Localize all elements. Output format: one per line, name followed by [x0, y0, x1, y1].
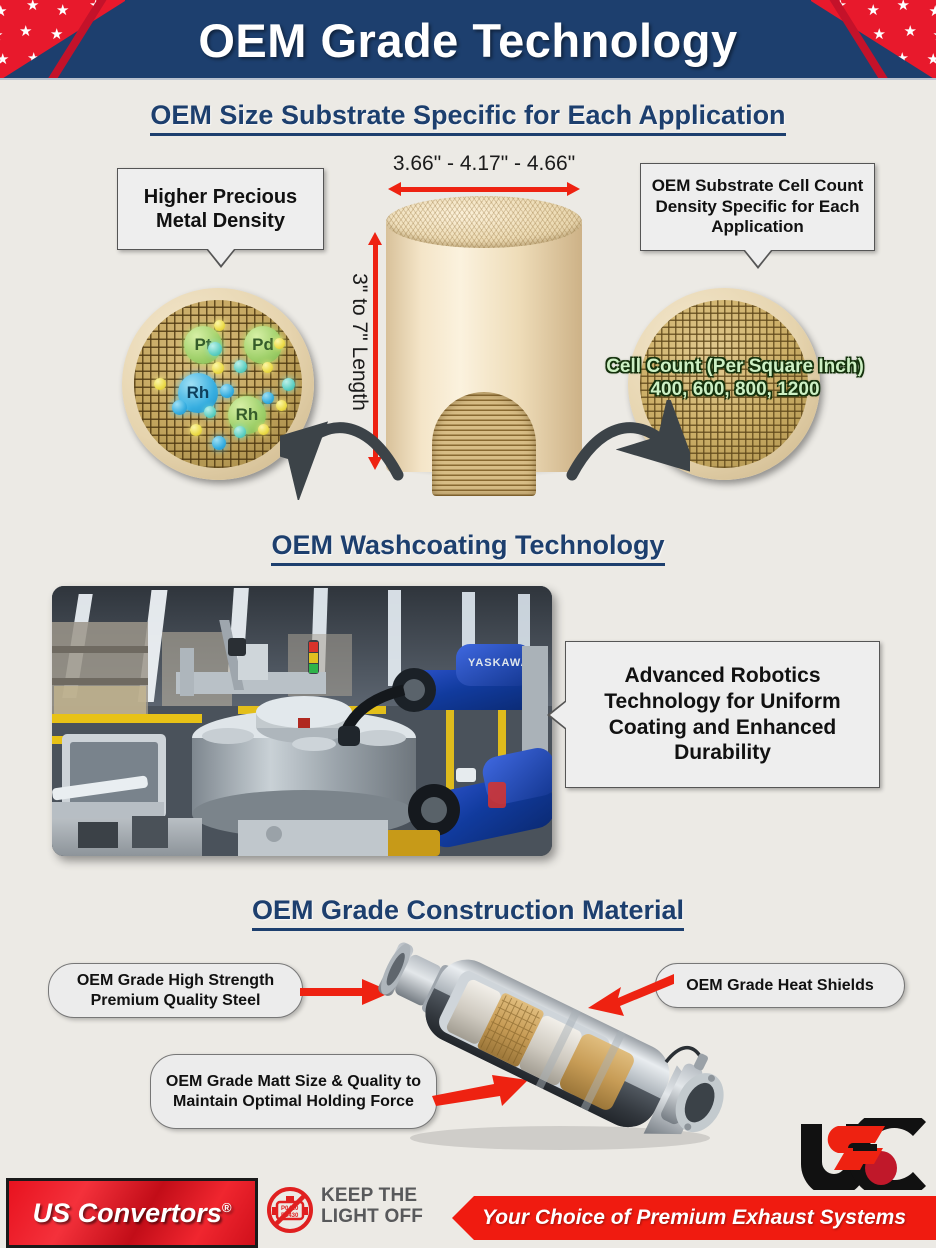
particle-dot	[234, 426, 246, 438]
particle-dot	[274, 338, 285, 349]
callout-density-text: Higher Precious Metal Density	[126, 185, 315, 234]
callout-high-strength-steel: OEM Grade High Strength Premium Quality …	[48, 963, 303, 1018]
cell-count-values: 400, 600, 800, 1200	[590, 378, 880, 401]
section-heading-construction-text: OEM Grade Construction Material	[252, 895, 684, 931]
particle-dot	[220, 384, 234, 398]
keep-light-line1: KEEP THE	[321, 1186, 423, 1207]
callout-substrate-cell-count-density: OEM Substrate Cell Count Density Specifi…	[640, 163, 875, 251]
arrow-shaft	[398, 187, 570, 192]
callout-robotics-text: Advanced Robotics Technology for Uniform…	[574, 663, 871, 765]
cylinder-top-face	[386, 196, 582, 248]
section-heading-construction: OEM Grade Construction Material	[0, 895, 936, 926]
tagline-banner: Your Choice of Premium Exhaust Systems	[452, 1196, 936, 1240]
particle-dot	[262, 362, 273, 373]
diameter-dimension-arrow	[388, 182, 580, 196]
particle-dot	[214, 320, 225, 331]
callout-cellcount-text: OEM Substrate Cell Count Density Specifi…	[649, 176, 866, 238]
washcoating-photo: YASKAWA	[52, 586, 552, 856]
washcoating-photo-svg: YASKAWA	[52, 586, 552, 856]
section-heading-size-text: OEM Size Substrate Specific for Each App…	[150, 100, 785, 136]
arrow-right-head-icon	[567, 182, 580, 196]
cell-count-overlay: Cell Count (Per Square Inch) 400, 600, 8…	[590, 355, 880, 401]
cylinder-honeycomb-cutaway	[432, 392, 536, 496]
particle-dot	[204, 406, 216, 418]
usc-logo-svg	[795, 1118, 930, 1190]
particle-dot	[208, 342, 222, 356]
converter-svg	[370, 940, 750, 1155]
zoom-circle-face: Pt Pd Rh Rh	[134, 300, 302, 468]
callout-higher-precious-metal-density: Higher Precious Metal Density	[117, 168, 324, 250]
catalytic-converter-image	[370, 940, 750, 1155]
tagline-text: Your Choice of Premium Exhaust Systems	[482, 1206, 906, 1230]
curved-arrow-to-right-circle	[560, 400, 690, 500]
keep-the-light-off-badge: P0420 P0430 KEEP THE LIGHT OFF	[265, 1186, 435, 1234]
page-title: OEM Grade Technology	[0, 0, 936, 80]
curved-arrow-to-left-circle	[280, 400, 410, 500]
particle-dot	[262, 392, 274, 404]
page-header: ★ ★ ★ ★ ★ ★ ★ ★ ★ ★ OEM Grade Technology…	[0, 0, 936, 80]
particle-dot	[172, 400, 187, 415]
cell-count-title: Cell Count (Per Square Inch)	[590, 355, 880, 378]
particle-dot	[212, 436, 226, 450]
substrate-cylinder	[386, 196, 582, 496]
svg-text:YASKAWA: YASKAWA	[468, 657, 530, 669]
particle-dot	[282, 378, 295, 391]
no-check-engine-light-icon: P0420 P0430	[265, 1186, 315, 1234]
callout-steel-text: OEM Grade High Strength Premium Quality …	[61, 971, 290, 1011]
section-heading-washcoating: OEM Washcoating Technology	[0, 530, 936, 561]
keep-light-line2: LIGHT OFF	[321, 1207, 423, 1228]
section-heading-size: OEM Size Substrate Specific for Each App…	[0, 100, 936, 131]
brand-name: US Convertors	[33, 1198, 222, 1228]
particle-dot	[154, 378, 166, 390]
particle-dot	[190, 424, 202, 436]
us-convertors-logo-text: US Convertors®	[33, 1198, 232, 1229]
registered-mark: ®	[222, 1200, 232, 1215]
particle-dot	[212, 362, 224, 374]
keep-light-off-text: KEEP THE LIGHT OFF	[321, 1186, 423, 1227]
section-heading-washcoating-text: OEM Washcoating Technology	[271, 530, 664, 566]
header-baseline	[0, 78, 936, 80]
particle-dot	[234, 360, 247, 373]
diameter-dimension-label: 3.66" - 4.17" - 4.66"	[368, 152, 600, 176]
callout-advanced-robotics: Advanced Robotics Technology for Uniform…	[565, 641, 880, 788]
us-convertors-logo: US Convertors®	[6, 1178, 258, 1248]
usc-logo	[795, 1118, 930, 1190]
particle-dot	[258, 424, 269, 435]
